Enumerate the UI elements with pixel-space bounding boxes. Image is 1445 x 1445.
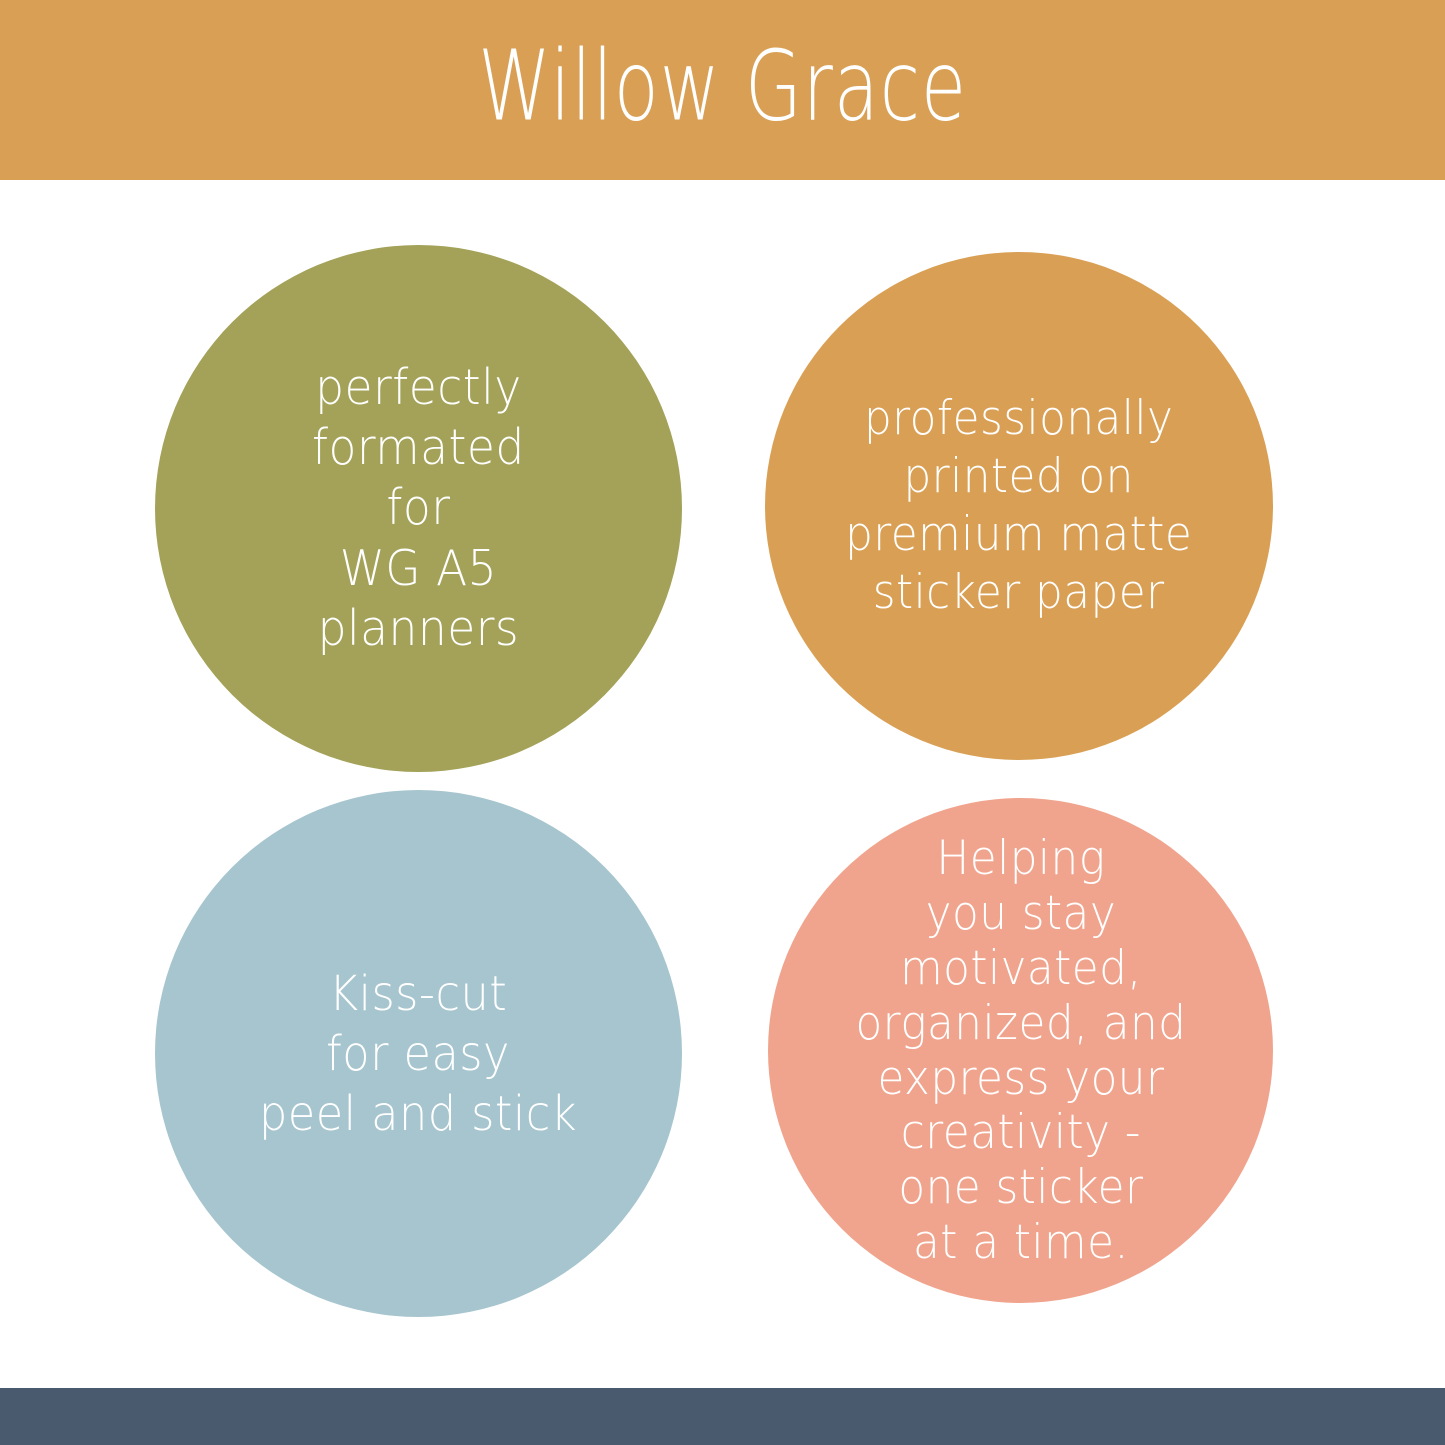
- feature-circle-brand-promise: Helping you stay motivated, organized, a…: [768, 798, 1273, 1303]
- feature-text-kiss-cut: Kiss-cut for easy peel and stick: [259, 964, 577, 1144]
- product-info-graphic: Willow Grace perfectly formated for WG A…: [0, 0, 1445, 1445]
- feature-text-brand-promise: Helping you stay motivated, organized, a…: [855, 831, 1186, 1271]
- feature-circle-kiss-cut: Kiss-cut for easy peel and stick: [155, 790, 682, 1317]
- footer-banner: [0, 1388, 1445, 1445]
- page-title: Willow Grace: [478, 38, 967, 142]
- feature-circle-perfectly-formated: perfectly formated for WG A5 planners: [155, 245, 682, 772]
- header-banner: Willow Grace: [0, 0, 1445, 180]
- feature-text-perfectly-formated: perfectly formated for WG A5 planners: [312, 358, 525, 659]
- feature-circle-grid: perfectly formated for WG A5 planners pr…: [0, 180, 1445, 1388]
- feature-circle-professionally-printed: professionally printed on premium matte …: [765, 252, 1273, 760]
- feature-text-professionally-printed: professionally printed on premium matte …: [845, 390, 1192, 621]
